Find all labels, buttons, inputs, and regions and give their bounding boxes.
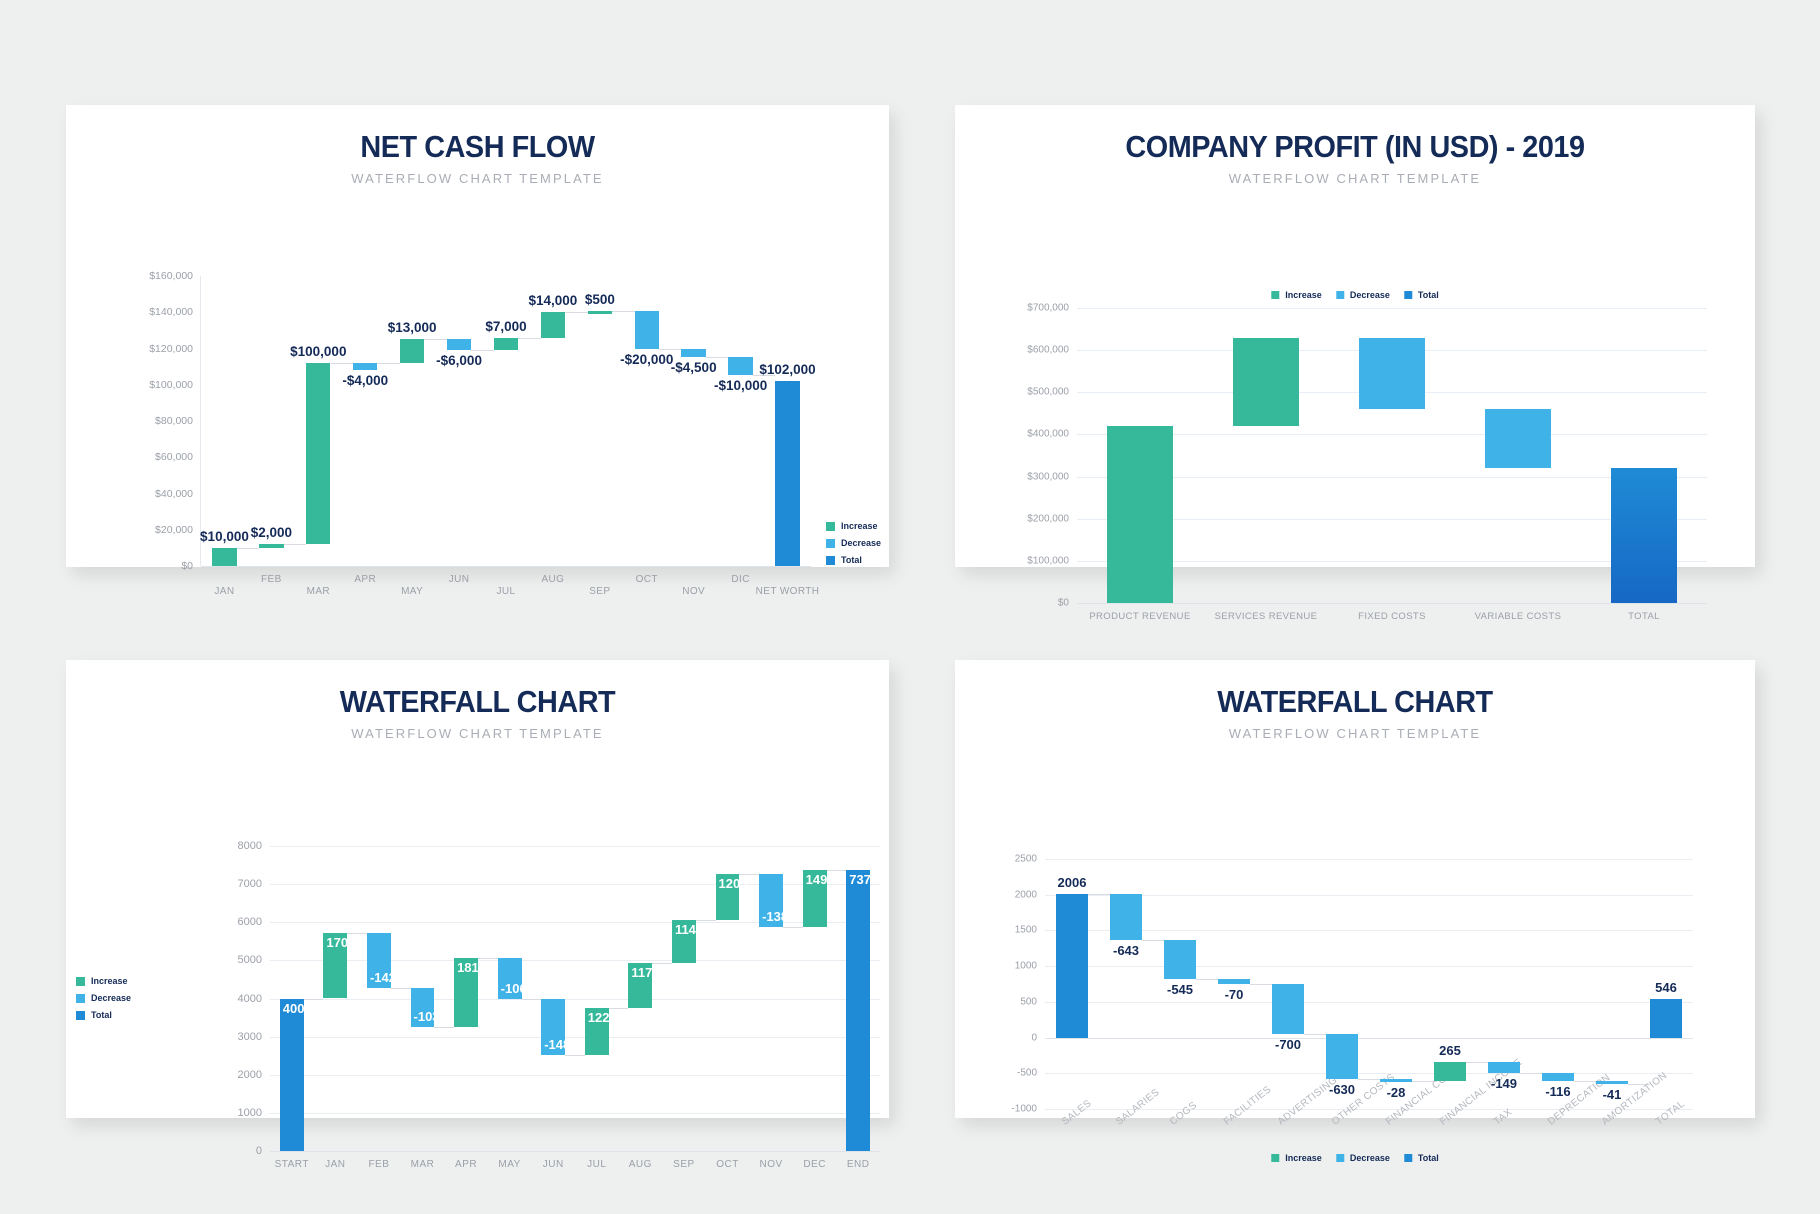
waterfall-connector — [304, 999, 324, 1000]
legend-label-decrease: Decrease — [1350, 1153, 1390, 1163]
waterfall-connector — [1088, 894, 1111, 895]
waterfall-bar[interactable] — [1485, 409, 1551, 468]
page-title: WATERFALL CHART — [95, 684, 860, 720]
y-axis-tick-label: $400,000 — [1027, 429, 1077, 440]
x-axis-tick-label: MAR — [307, 586, 330, 597]
bar-value-label: -630 — [1329, 1082, 1355, 1097]
x-axis-tick-label: APR — [455, 1159, 477, 1170]
bar-value-label: 1707 — [326, 935, 355, 950]
chart-card-waterfall-monthly: WATERFALL CHART WATERFLOW CHART TEMPLATE… — [66, 660, 889, 1118]
bar-value-label: -$20,000 — [620, 352, 673, 367]
gridline — [270, 884, 880, 885]
x-axis-tick-label: MAY — [498, 1159, 520, 1170]
x-axis-tick-label: FEB — [261, 574, 282, 585]
chart-card-waterfall-pnl: WATERFALL CHART WATERFLOW CHART TEMPLATE… — [955, 660, 1755, 1118]
legend-swatch-decrease — [826, 539, 835, 548]
y-axis-line — [200, 276, 201, 566]
legend-company-profit: Increase Decrease Total — [1271, 290, 1438, 300]
waterfall-bar[interactable] — [306, 363, 330, 544]
legend-item-increase: Increase — [1271, 1153, 1322, 1163]
y-axis-tick-label: -500 — [1017, 1068, 1045, 1079]
bar-value-label: $2,000 — [251, 525, 292, 540]
gridline — [1077, 308, 1707, 309]
bar-value-label: -1481 — [544, 1037, 577, 1052]
waterfall-connector — [739, 874, 759, 875]
y-axis-tick-label: $160,000 — [149, 270, 201, 282]
y-axis-tick-label: 1500 — [1015, 925, 1045, 936]
waterfall-bar[interactable] — [588, 311, 612, 314]
waterfall-connector — [1304, 1034, 1327, 1035]
y-axis-tick-label: $100,000 — [1027, 555, 1077, 566]
legend-label-decrease: Decrease — [91, 993, 131, 1003]
bar-value-label: 1492 — [806, 872, 835, 887]
legend-label-increase: Increase — [1285, 290, 1322, 300]
legend-label-total: Total — [91, 1010, 112, 1020]
legend-label-total: Total — [841, 555, 862, 565]
y-axis-tick-label: $60,000 — [155, 451, 201, 463]
x-axis-tick-label: NET WORTH — [756, 586, 820, 597]
y-axis-tick-label: 0 — [256, 1145, 270, 1157]
bar-value-label: $500 — [585, 292, 615, 307]
y-axis-tick-label: 2000 — [238, 1069, 270, 1081]
page-title: NET CASH FLOW — [95, 129, 860, 165]
waterfall-connector — [565, 312, 588, 313]
bar-value-label: 546 — [1655, 980, 1677, 995]
y-axis-tick-label: $80,000 — [155, 415, 201, 427]
y-axis-tick-label: $20,000 — [155, 524, 201, 536]
x-axis-tick-label: NOV — [759, 1159, 782, 1170]
y-axis-tick-label: $200,000 — [1027, 513, 1077, 524]
bar-value-label: $7,000 — [485, 319, 526, 334]
waterfall-bar[interactable] — [280, 999, 304, 1152]
legend-item-decrease: Decrease — [76, 993, 131, 1003]
x-axis-tick-label: OCT — [636, 574, 658, 585]
gridline — [270, 999, 880, 1000]
bar-value-label: $100,000 — [290, 344, 346, 359]
legend-swatch-decrease — [1336, 291, 1344, 299]
bar-value-label: -643 — [1113, 943, 1139, 958]
bar-value-label: -1388 — [762, 909, 795, 924]
y-axis-tick-label: $0 — [1058, 598, 1077, 609]
x-axis-tick-label: SEP — [589, 586, 610, 597]
waterfall-connector — [1466, 1062, 1489, 1063]
y-axis-tick-label: $120,000 — [149, 343, 201, 355]
gridline — [270, 960, 880, 961]
x-axis-tick-label: VARIABLE COSTS — [1475, 611, 1562, 622]
x-axis-tick-label: JAN — [325, 1159, 345, 1170]
y-axis-tick-label: 0 — [1031, 1032, 1045, 1043]
waterfall-bar[interactable] — [1272, 984, 1303, 1034]
x-axis-tick-label: DIC — [731, 574, 749, 585]
bar-value-label: -70 — [1225, 987, 1244, 1002]
chart-subtitle: WATERFLOW CHART TEMPLATE — [66, 726, 889, 741]
bar-value-label: $102,000 — [759, 362, 815, 377]
waterfall-connector — [1196, 979, 1219, 980]
waterfall-bar[interactable] — [400, 339, 424, 363]
x-axis-tick-label: END — [847, 1159, 870, 1170]
x-axis-tick-label: START — [275, 1159, 309, 1170]
legend-swatch-total — [76, 1011, 85, 1020]
x-axis-tick-label: TOTAL — [1654, 1098, 1687, 1127]
bar-value-label: 2006 — [1058, 875, 1087, 890]
waterfall-connector — [434, 1027, 454, 1028]
bar-value-label: 1812 — [457, 960, 486, 975]
x-axis-tick-label: COGS — [1168, 1100, 1199, 1128]
zero-baseline — [270, 1151, 880, 1152]
gridline — [1045, 930, 1693, 931]
waterfall-bar[interactable] — [846, 870, 870, 1151]
waterfall-bar[interactable] — [1164, 940, 1195, 979]
waterfall-bar[interactable] — [1107, 426, 1173, 603]
waterfall-bar[interactable] — [1611, 468, 1677, 603]
waterfall-connector — [518, 338, 541, 339]
waterfall-connector — [783, 927, 803, 928]
waterfall-bar[interactable] — [541, 312, 565, 337]
waterfall-connector — [424, 339, 447, 340]
waterfall-bar[interactable] — [1359, 338, 1425, 410]
y-axis-tick-label: 2500 — [1015, 854, 1045, 865]
x-axis-tick-label: JUN — [449, 574, 470, 585]
y-axis-tick-label: 500 — [1020, 996, 1045, 1007]
legend-label-increase: Increase — [91, 976, 128, 986]
y-axis-tick-label: $300,000 — [1027, 471, 1077, 482]
legend-swatch-total — [1404, 291, 1412, 299]
x-axis-tick-label: FIXED COSTS — [1358, 611, 1426, 622]
waterfall-connector — [391, 988, 411, 989]
waterfall-bar[interactable] — [635, 311, 659, 348]
legend-label-decrease: Decrease — [1350, 290, 1390, 300]
y-axis-tick-label: $40,000 — [155, 488, 201, 500]
legend-waterfall-pnl: Increase Decrease Total — [1271, 1153, 1438, 1163]
waterfall-connector — [284, 544, 307, 545]
x-axis-tick-label: PRODUCT REVENUE — [1089, 611, 1190, 622]
x-axis-tick-label: FACILITIES — [1222, 1084, 1274, 1128]
page-title: COMPANY PROFIT (IN USD) - 2019 — [983, 129, 1727, 165]
bar-value-label: 1205 — [719, 876, 748, 891]
y-axis-tick-label: 7000 — [238, 878, 270, 890]
x-axis-tick-label: MAY — [401, 586, 423, 597]
chart-subtitle: WATERFLOW CHART TEMPLATE — [66, 171, 889, 186]
legend-label-increase: Increase — [1285, 1153, 1322, 1163]
x-axis-tick-label: JUL — [587, 1159, 606, 1170]
bar-value-label: 1146 — [675, 922, 703, 937]
chart-card-net-cash-flow: NET CASH FLOW WATERFLOW CHART TEMPLATE $… — [66, 105, 889, 567]
bar-value-label: 4000 — [283, 1001, 312, 1016]
bar-value-label: -1425 — [370, 970, 403, 985]
waterfall-connector — [237, 548, 260, 549]
legend-net-cash-flow: Increase Decrease Total — [826, 521, 881, 572]
zero-baseline — [1077, 603, 1707, 604]
x-axis-tick-label: AUG — [629, 1159, 652, 1170]
bar-value-label: 265 — [1439, 1043, 1461, 1058]
waterfall-bar[interactable] — [494, 338, 518, 351]
y-axis-tick-label: 6000 — [238, 916, 270, 928]
slide-deck-canvas: NET CASH FLOW WATERFLOW CHART TEMPLATE $… — [0, 0, 1820, 1214]
y-axis-tick-label: $700,000 — [1027, 303, 1077, 314]
x-axis-tick-label: OCT — [716, 1159, 739, 1170]
bar-value-label: 1228 — [588, 1010, 617, 1025]
waterfall-bar[interactable] — [1488, 1062, 1519, 1073]
waterfall-connector — [377, 363, 400, 364]
legend-label-increase: Increase — [841, 521, 878, 531]
y-axis-tick-label: 1000 — [1015, 961, 1045, 972]
legend-item-total: Total — [1404, 1153, 1439, 1163]
waterfall-connector — [478, 958, 498, 959]
waterfall-bar[interactable] — [728, 357, 752, 375]
waterfall-bar[interactable] — [259, 544, 283, 548]
y-axis-tick-label: 4000 — [238, 993, 270, 1005]
legend-item-increase: Increase — [826, 521, 881, 531]
y-axis-tick-label: 3000 — [238, 1031, 270, 1043]
legend-item-increase: Increase — [76, 976, 131, 986]
waterfall-connector — [612, 311, 635, 312]
x-axis-tick-label: SALES — [1060, 1098, 1094, 1128]
waterfall-connector — [1358, 1079, 1381, 1080]
x-axis-tick-label: DEC — [803, 1159, 826, 1170]
y-axis-tick-label: -1000 — [1011, 1104, 1045, 1115]
waterfall-connector — [659, 349, 682, 350]
waterfall-connector — [565, 1055, 585, 1056]
gridline — [1045, 966, 1693, 967]
x-axis-tick-label: JAN — [214, 586, 234, 597]
waterfall-connector — [652, 963, 672, 964]
legend-swatch-increase — [1271, 1154, 1279, 1162]
waterfall-connector — [827, 870, 847, 871]
chart-subtitle: WATERFLOW CHART TEMPLATE — [955, 726, 1755, 741]
x-axis-tick-label: SERVICES REVENUE — [1215, 611, 1318, 622]
bar-value-label: 1176 — [631, 965, 659, 980]
legend-swatch-increase — [76, 977, 85, 986]
y-axis-tick-label: $100,000 — [149, 379, 201, 391]
waterfall-bar[interactable] — [1233, 338, 1299, 427]
bar-value-label: -28 — [1387, 1085, 1406, 1100]
y-axis-tick-label: 2000 — [1015, 889, 1045, 900]
bar-value-label: -$4,000 — [342, 373, 388, 388]
waterfall-connector — [1250, 984, 1273, 985]
bar-value-label: $13,000 — [388, 320, 437, 335]
waterfall-bar[interactable] — [1596, 1081, 1627, 1084]
bar-value-label: -$6,000 — [436, 353, 482, 368]
y-axis-tick-label: 8000 — [238, 840, 270, 852]
x-axis-tick-label: JUN — [543, 1159, 564, 1170]
x-axis-tick-label: SALARIES — [1114, 1087, 1162, 1128]
legend-item-decrease: Decrease — [1336, 1153, 1390, 1163]
waterfall-bar[interactable] — [212, 548, 236, 566]
bar-value-label: -$10,000 — [714, 378, 767, 393]
waterfall-bar[interactable] — [1434, 1062, 1465, 1081]
page-title: WATERFALL CHART — [983, 684, 1727, 720]
waterfall-bar[interactable] — [1326, 1034, 1357, 1079]
y-axis-tick-label: 1000 — [238, 1107, 270, 1119]
y-axis-tick-label: $500,000 — [1027, 387, 1077, 398]
legend-item-total: Total — [76, 1010, 131, 1020]
waterfall-connector — [471, 350, 494, 351]
gridline — [270, 1113, 880, 1114]
gridline — [1045, 1002, 1693, 1003]
waterfall-bar[interactable] — [1542, 1073, 1573, 1081]
legend-label-decrease: Decrease — [841, 538, 881, 548]
chart-card-company-profit: COMPANY PROFIT (IN USD) - 2019 WATERFLOW… — [955, 105, 1755, 567]
y-axis-tick-label: $0 — [181, 560, 201, 572]
waterfall-bar[interactable] — [353, 363, 377, 370]
x-axis-tick-label: MAR — [411, 1159, 435, 1170]
waterfall-connector — [706, 357, 729, 358]
waterfall-connector — [1142, 940, 1165, 941]
gridline — [1045, 859, 1693, 860]
waterfall-connector — [347, 933, 367, 934]
zero-baseline — [201, 566, 811, 567]
y-axis-tick-label: $140,000 — [149, 306, 201, 318]
gridline — [270, 1075, 880, 1076]
waterfall-connector — [609, 1008, 629, 1009]
bar-value-label: -1067 — [501, 981, 534, 996]
bar-value-label: -1030 — [414, 1009, 447, 1024]
waterfall-connector — [696, 920, 716, 921]
bar-value-label: 7375 — [849, 872, 878, 887]
gridline — [1045, 1073, 1693, 1074]
waterfall-bar[interactable] — [1650, 999, 1681, 1038]
x-axis-tick-label: TOTAL — [1628, 611, 1660, 622]
gridline — [1045, 895, 1693, 896]
bar-value-label: -545 — [1167, 982, 1193, 997]
waterfall-bar[interactable] — [447, 339, 471, 350]
x-axis-tick-label: NOV — [682, 586, 705, 597]
legend-swatch-decrease — [76, 994, 85, 1003]
legend-item-decrease: Decrease — [826, 538, 881, 548]
bar-value-label: $14,000 — [529, 293, 578, 308]
legend-item-decrease: Decrease — [1336, 290, 1390, 300]
zero-baseline — [1045, 1038, 1693, 1039]
bar-value-label: -700 — [1275, 1037, 1301, 1052]
waterfall-connector — [1520, 1073, 1543, 1074]
waterfall-bar[interactable] — [1110, 894, 1141, 940]
chart-subtitle: WATERFLOW CHART TEMPLATE — [955, 171, 1755, 186]
legend-label-total: Total — [1418, 290, 1439, 300]
x-axis-tick-label: SEP — [673, 1159, 695, 1170]
x-axis-tick-label: FEB — [368, 1159, 389, 1170]
waterfall-connector — [331, 363, 354, 364]
y-axis-tick-label: $600,000 — [1027, 345, 1077, 356]
gridline — [270, 846, 880, 847]
legend-item-total: Total — [826, 555, 881, 565]
legend-swatch-total — [826, 556, 835, 565]
y-axis-tick-label: 5000 — [238, 954, 270, 966]
waterfall-bar[interactable] — [1218, 979, 1249, 984]
legend-swatch-increase — [826, 522, 835, 531]
legend-swatch-decrease — [1336, 1154, 1344, 1162]
waterfall-bar[interactable] — [1056, 894, 1087, 1037]
legend-item-total: Total — [1404, 290, 1439, 300]
bar-value-label: -149 — [1491, 1076, 1517, 1091]
bar-value-label: -116 — [1545, 1084, 1570, 1099]
bar-value-label: -$4,500 — [671, 360, 717, 375]
waterfall-bar[interactable] — [1380, 1079, 1411, 1082]
bar-value-label: -41 — [1603, 1087, 1622, 1102]
bar-value-label: $10,000 — [200, 529, 249, 544]
legend-swatch-total — [1404, 1154, 1412, 1162]
legend-label-total: Total — [1418, 1153, 1439, 1163]
legend-item-increase: Increase — [1271, 290, 1322, 300]
legend-waterfall-monthly-left: Increase Decrease Total — [76, 976, 131, 1027]
x-axis-tick-label: JUL — [497, 586, 516, 597]
x-axis-tick-label: APR — [354, 574, 376, 585]
waterfall-bar[interactable] — [775, 381, 799, 566]
waterfall-bar[interactable] — [681, 349, 705, 357]
legend-swatch-increase — [1271, 291, 1279, 299]
waterfall-connector — [522, 999, 542, 1000]
x-axis-tick-label: AUG — [541, 574, 564, 585]
